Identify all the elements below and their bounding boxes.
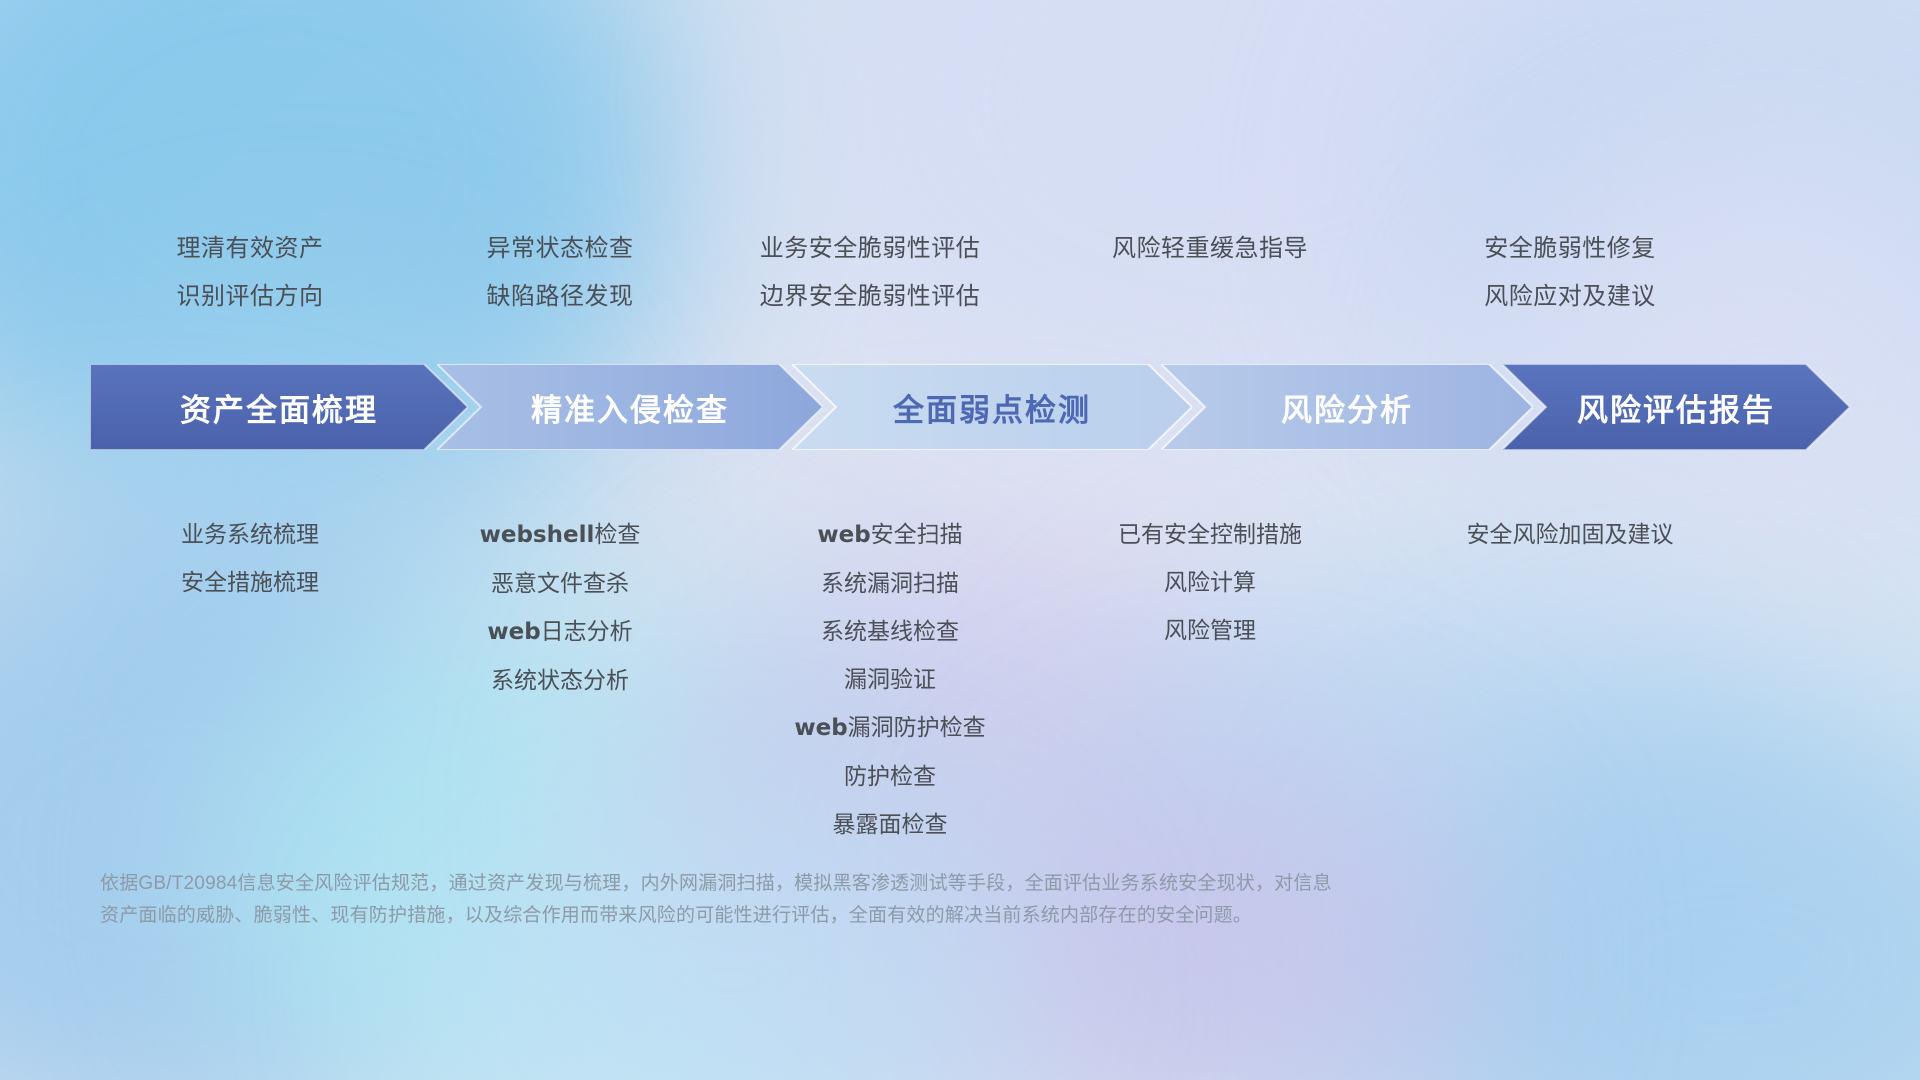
chevron-stage-1[interactable]: 资产全面梳理: [90, 364, 468, 450]
top-item: 业务安全脆弱性评估: [680, 225, 1060, 273]
chevron-label: 风险评估报告: [1577, 385, 1775, 430]
stage-top-items-5: 安全脆弱性修复 风险应对及建议: [1400, 225, 1740, 321]
stage-bottom-items-5: 安全风险加固及建议: [1390, 510, 1750, 558]
stage-bottom-items-3: web安全扫描 系统漏洞扫描 系统基线检查 漏洞验证 web漏洞防护检查 防护检…: [700, 510, 1080, 848]
chevron-label: 精准入侵检查: [531, 385, 729, 430]
top-item: 风险轻重缓急指导: [1040, 225, 1380, 273]
bottom-item: 系统漏洞扫描: [700, 559, 1080, 607]
bottom-item: 安全风险加固及建议: [1390, 510, 1750, 558]
process-chevron-band: 资产全面梳理 精准入侵检查: [90, 364, 1850, 450]
bottom-item: 风险管理: [1040, 606, 1380, 654]
chevron-stage-2[interactable]: 精准入侵检查: [437, 364, 823, 450]
footer-description: 依据GB/T20984信息安全风险评估规范，通过资产发现与梳理，内外网漏洞扫描，…: [100, 868, 1660, 932]
chevron-label: 全面弱点检测: [893, 385, 1091, 430]
stage-bottom-items-2: webshell检查 恶意文件查杀 web日志分析 系统状态分析: [400, 510, 720, 704]
bottom-item: 暴露面检查: [700, 800, 1080, 848]
stage-top-items-1: 理清有效资产 识别评估方向: [90, 225, 410, 321]
footer-line: 资产面临的威胁、脆弱性、现有防护措施，以及综合作用而带来风险的可能性进行评估，全…: [100, 900, 1660, 932]
stage-bottom-items-4: 已有安全控制措施 风险计算 风险管理: [1040, 510, 1380, 654]
top-item: 边界安全脆弱性评估: [680, 273, 1060, 321]
stage-bottom-items-1: 业务系统梳理 安全措施梳理: [90, 510, 410, 606]
bottom-item: web日志分析: [400, 607, 720, 656]
bottom-item: 业务系统梳理: [90, 510, 410, 558]
chevron-stage-3[interactable]: 全面弱点检测: [792, 364, 1192, 450]
chevron-label: 风险分析: [1281, 385, 1413, 430]
bottom-item: 已有安全控制措施: [1040, 510, 1380, 558]
chevron-stage-5[interactable]: 风险评估报告: [1502, 364, 1850, 450]
top-item: 异常状态检查: [400, 225, 720, 273]
bottom-item: 系统基线检查: [700, 607, 1080, 655]
bottom-item: web安全扫描: [700, 510, 1080, 559]
bottom-item: 安全措施梳理: [90, 558, 410, 606]
bottom-item: 漏洞验证: [700, 655, 1080, 703]
stage-top-items-2: 异常状态检查 缺陷路径发现: [400, 225, 720, 321]
chevron-stage-4[interactable]: 风险分析: [1161, 364, 1533, 450]
bottom-item: webshell检查: [400, 510, 720, 559]
bottom-item: 风险计算: [1040, 558, 1380, 606]
bottom-item: 防护检查: [700, 752, 1080, 800]
bottom-item: 恶意文件查杀: [400, 559, 720, 607]
stage-top-items-4: 风险轻重缓急指导: [1040, 225, 1380, 273]
top-item: 缺陷路径发现: [400, 273, 720, 321]
top-item: 识别评估方向: [90, 273, 410, 321]
top-item: 理清有效资产: [90, 225, 410, 273]
chevron-label: 资产全面梳理: [180, 385, 378, 430]
bottom-item: web漏洞防护检查: [700, 703, 1080, 752]
top-item: 安全脆弱性修复: [1400, 225, 1740, 273]
top-item: 风险应对及建议: [1400, 273, 1740, 321]
stage-top-items-3: 业务安全脆弱性评估 边界安全脆弱性评估: [680, 225, 1060, 321]
footer-line: 依据GB/T20984信息安全风险评估规范，通过资产发现与梳理，内外网漏洞扫描，…: [100, 868, 1660, 900]
bottom-item: 系统状态分析: [400, 656, 720, 704]
